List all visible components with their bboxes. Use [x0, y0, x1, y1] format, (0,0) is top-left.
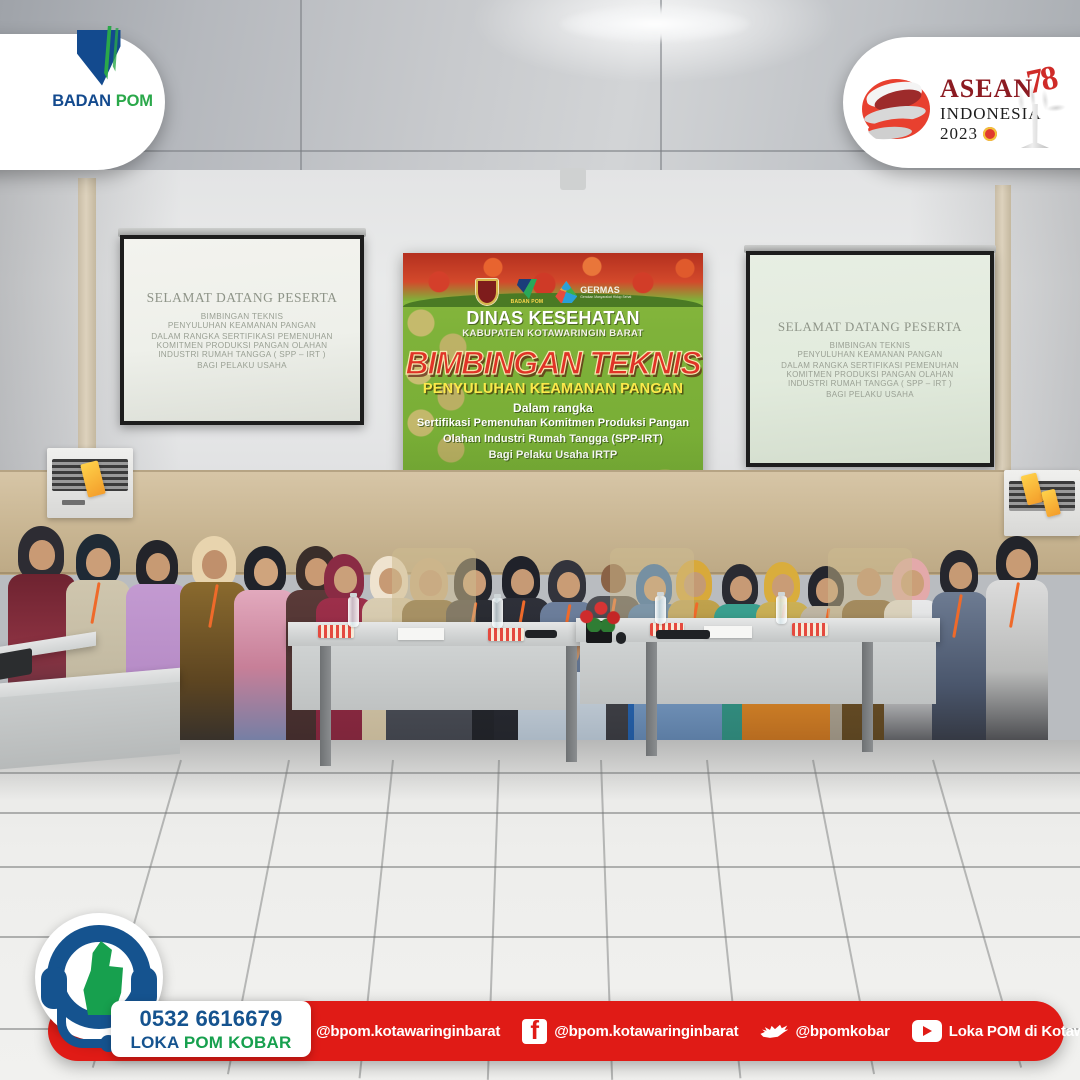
right-screen-line: KOMITMEN PRODUKSI PANGAN OLAHAN	[787, 370, 954, 379]
badan-pom-logo: BADAN POM	[30, 16, 175, 120]
wood-panel-line	[0, 470, 1080, 472]
headset-mic-icon	[57, 1005, 110, 1048]
panel-table-left-apron	[292, 646, 576, 710]
instagram-handle[interactable]: @bpom.kotawaringinbarat	[316, 1023, 500, 1040]
hotline-unit-name: LOKA POM KOBAR	[131, 1034, 292, 1051]
floor-tile-line	[0, 866, 1080, 868]
left-screen-line: BIMBINGAN TEKNIS	[201, 312, 283, 321]
social-instagram[interactable]: @bpom.kotawaringinbarat	[280, 1017, 500, 1046]
banner-detail-line: Dalam rangka	[403, 401, 703, 415]
water-bottle	[655, 596, 666, 624]
right-screen-line: PENYULUHAN KEAMANAN PANGAN	[797, 350, 942, 359]
bottle-cap	[657, 592, 664, 596]
right-screen-line: BIMBINGAN TEKNIS	[830, 341, 911, 350]
badan-pom-wordmark: BADAN POM	[52, 92, 153, 111]
left-screen-line: BAGI PELAKU USAHA	[197, 361, 287, 370]
wall-pilaster	[995, 185, 1011, 475]
snack-box	[318, 625, 354, 638]
left-screen-content: SELAMAT DATANG PESERTA BIMBINGAN TEKNIS …	[124, 239, 360, 421]
participant	[932, 530, 988, 762]
banner-subheadline: PENYULUHAN KEAMANAN PANGAN	[403, 381, 703, 397]
right-projector-screen: SELAMAT DATANG PESERTA BIMBINGAN TEKNIS …	[746, 251, 994, 467]
hotline-badge: 0532 6616679 LOKA POM KOBAR	[35, 913, 215, 1061]
table-leg	[566, 646, 577, 762]
germas-text-block: GERMAS Gerakan Masyarakat Hidup Sehat	[580, 286, 631, 299]
facebook-icon[interactable]	[522, 1019, 547, 1044]
water-bottle	[776, 596, 787, 624]
badan-pom-shield-icon	[73, 26, 133, 88]
table-leg	[646, 642, 657, 756]
ceiling-projector	[560, 168, 586, 190]
twitter-handle[interactable]: @bpomkobar	[795, 1023, 889, 1040]
panel-table-right-apron	[580, 642, 936, 704]
right-screen-content: SELAMAT DATANG PESERTA BIMBINGAN TEKNIS …	[750, 255, 990, 463]
right-screen-line: INDUSTRI RUMAH TANGGA ( SPP – IRT )	[788, 379, 952, 388]
wall-pilaster	[78, 178, 96, 478]
left-screen-line: INDUSTRI RUMAH TANGGA ( SPP – IRT )	[158, 350, 326, 359]
badan-pom-logo-icon: BADAN POM	[511, 279, 544, 305]
left-screen-line: PENYULUHAN KEAMANAN PANGAN	[168, 321, 316, 330]
youtube-handle[interactable]: Loka POM di Kotawaringin Barat	[949, 1023, 1080, 1040]
hotline-unit-word1: LOKA	[131, 1033, 179, 1052]
twitter-icon[interactable]	[760, 1020, 788, 1043]
paper-sheet	[704, 626, 752, 638]
facebook-handle[interactable]: @bpom.kotawaringinbarat	[554, 1023, 738, 1040]
hut-ri-78-logo: 78	[1005, 60, 1067, 160]
bottle-cap	[494, 594, 501, 598]
hotline-phone-number[interactable]: 0532 6616679	[139, 1008, 282, 1030]
asean-year: 2023	[940, 125, 978, 142]
right-screen-title: SELAMAT DATANG PESERTA	[778, 319, 962, 335]
bottle-cap	[350, 593, 357, 597]
badan-pom-word1: BADAN	[52, 92, 111, 111]
left-screen-line: KOMITMEN PRODUKSI PANGAN OLAHAN	[157, 341, 328, 350]
chair	[392, 548, 476, 632]
banner-logo-row: BADAN POM GERMAS Gerakan Masyarakat Hidu…	[403, 277, 703, 307]
floor-tile-line	[0, 812, 1080, 814]
left-screen-title: SELAMAT DATANG PESERTA	[147, 290, 338, 306]
germas-logo-icon: GERMAS Gerakan Masyarakat Hidup Sehat	[555, 281, 631, 303]
germas-label: GERMAS	[580, 286, 631, 295]
participant	[986, 518, 1048, 762]
water-bottle	[492, 598, 503, 628]
badan-pom-word2: POM	[116, 92, 153, 111]
flower-arrangement	[576, 598, 624, 632]
panel-table-right	[576, 618, 940, 642]
hotline-unit-word2: POM	[184, 1033, 223, 1052]
banner-org-line1: DINAS KESEHATAN	[403, 308, 703, 329]
ceiling-light	[560, 6, 750, 42]
laptop-closed	[656, 630, 710, 639]
paper-sheet	[398, 628, 444, 640]
social-youtube[interactable]: Loka POM di Kotawaringin Barat	[912, 1020, 1080, 1042]
hotline-plate: 0532 6616679 LOKA POM KOBAR	[111, 1001, 311, 1057]
banner-badan-pom-label: BADAN POM	[511, 299, 544, 305]
asean-seal-icon	[983, 127, 997, 141]
snack-box	[792, 623, 828, 636]
table-leg	[862, 642, 873, 752]
right-screen-line: DALAM RANGKA SERTIFIKASI PEMENUHAN	[781, 361, 959, 370]
social-twitter[interactable]: @bpomkobar	[760, 1020, 889, 1043]
left-projector-screen: SELAMAT DATANG PESERTA BIMBINGAN TEKNIS …	[120, 235, 364, 425]
asean-emblem-icon	[860, 73, 932, 145]
germas-sublabel: Gerakan Masyarakat Hidup Sehat	[580, 295, 631, 299]
water-bottle	[348, 597, 359, 627]
hotline-unit-word3: KOBAR	[228, 1033, 291, 1052]
snack-box	[488, 628, 524, 641]
banner-headline: BIMBINGAN TEKNIS	[403, 345, 703, 382]
kabupaten-seal-icon	[475, 278, 499, 306]
bottle-cap	[778, 592, 785, 596]
banner-detail-line: Sertifikasi Pemenuhan Komitmen Produksi …	[403, 417, 703, 429]
youtube-icon[interactable]	[912, 1020, 942, 1042]
banner-org-line2: KABUPATEN KOTAWARINGIN BARAT	[403, 328, 703, 339]
right-screen-line: BAGI PELAKU USAHA	[826, 390, 914, 399]
floor-tile-line	[0, 772, 1080, 774]
headset-earcup-left-icon	[41, 967, 67, 1009]
table-leg	[320, 646, 331, 766]
germas-mark	[555, 281, 577, 303]
social-facebook[interactable]: @bpom.kotawaringinbarat	[522, 1019, 738, 1044]
left-screen-line: DALAM RANGKA SERTIFIKASI PEMENUHAN	[151, 332, 333, 341]
microphone	[525, 630, 557, 638]
poster-canvas: SELAMAT DATANG PESERTA BIMBINGAN TEKNIS …	[0, 0, 1080, 1080]
badan-pom-mark	[517, 279, 537, 299]
microphone	[616, 632, 626, 644]
